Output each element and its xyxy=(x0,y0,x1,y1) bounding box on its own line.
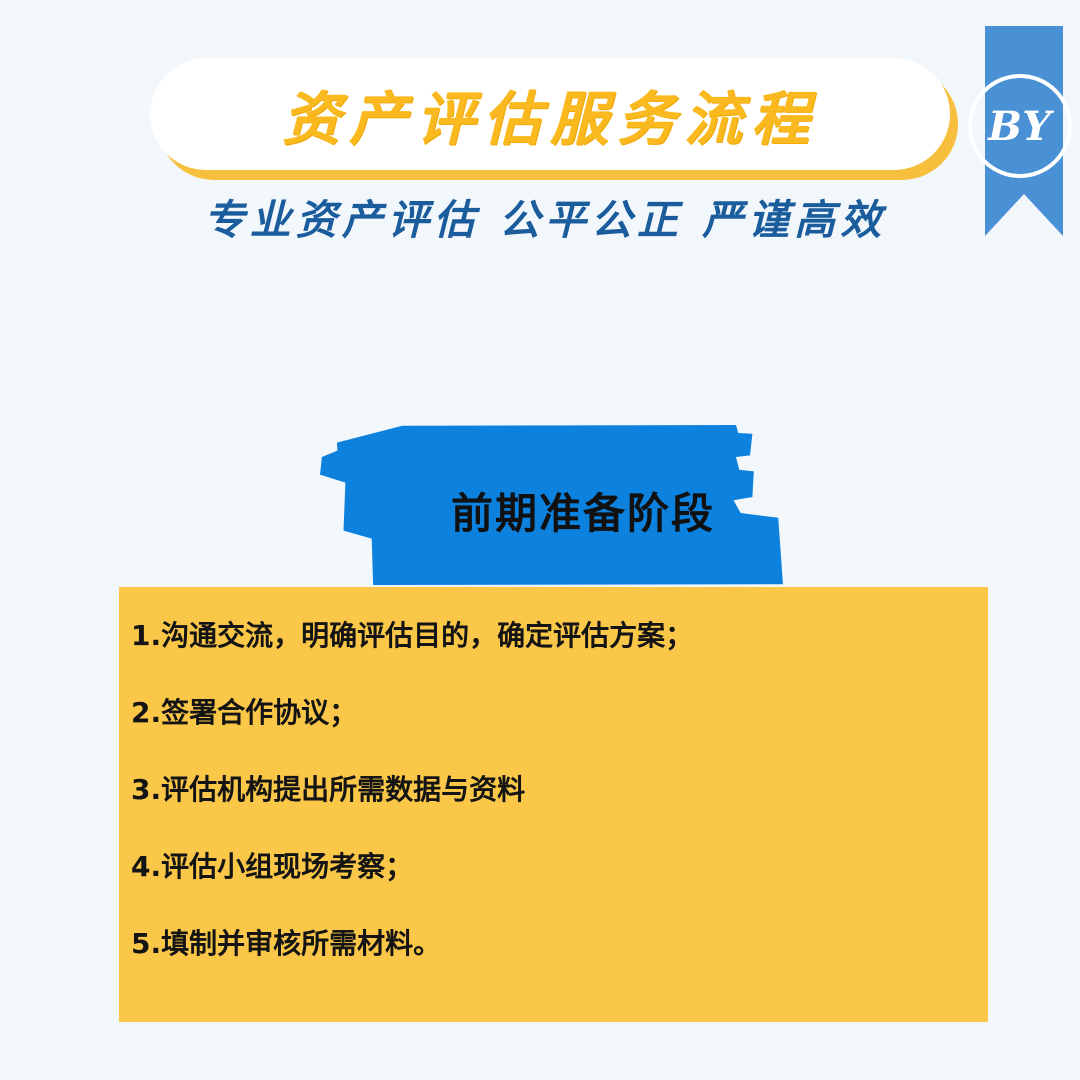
title-banner: 资产评估服务流程 xyxy=(150,58,950,170)
page-subtitle: 专业资产评估 公平公正 严谨高效 xyxy=(150,186,940,246)
content-card: 1.沟通交流，明确评估目的，确定评估方案； 2.签署合作协议； 3.评估机构提出… xyxy=(119,587,988,1022)
step-list: 1.沟通交流，明确评估目的，确定评估方案； 2.签署合作协议； 3.评估机构提出… xyxy=(131,619,958,960)
stage-title: 前期准备阶段 xyxy=(320,425,790,585)
header-section: 资产评估服务流程 专业资产评估 公平公正 严谨高效 BY xyxy=(0,0,1080,270)
ribbon-badge: BY xyxy=(985,26,1063,236)
list-item: 4.评估小组现场考察； xyxy=(131,850,958,883)
list-item: 5.填制并审核所需材料。 xyxy=(131,927,958,960)
list-item: 3.评估机构提出所需数据与资料 xyxy=(131,773,958,806)
badge-initials: BY xyxy=(968,74,1072,178)
poster-canvas: 资产评估服务流程 专业资产评估 公平公正 严谨高效 BY 前期准备阶段 1.沟通… xyxy=(0,0,1080,1080)
list-item: 2.签署合作协议； xyxy=(131,696,958,729)
list-item: 1.沟通交流，明确评估目的，确定评估方案； xyxy=(131,619,958,652)
page-title: 资产评估服务流程 xyxy=(150,58,950,170)
stage-banner: 前期准备阶段 xyxy=(320,425,790,585)
